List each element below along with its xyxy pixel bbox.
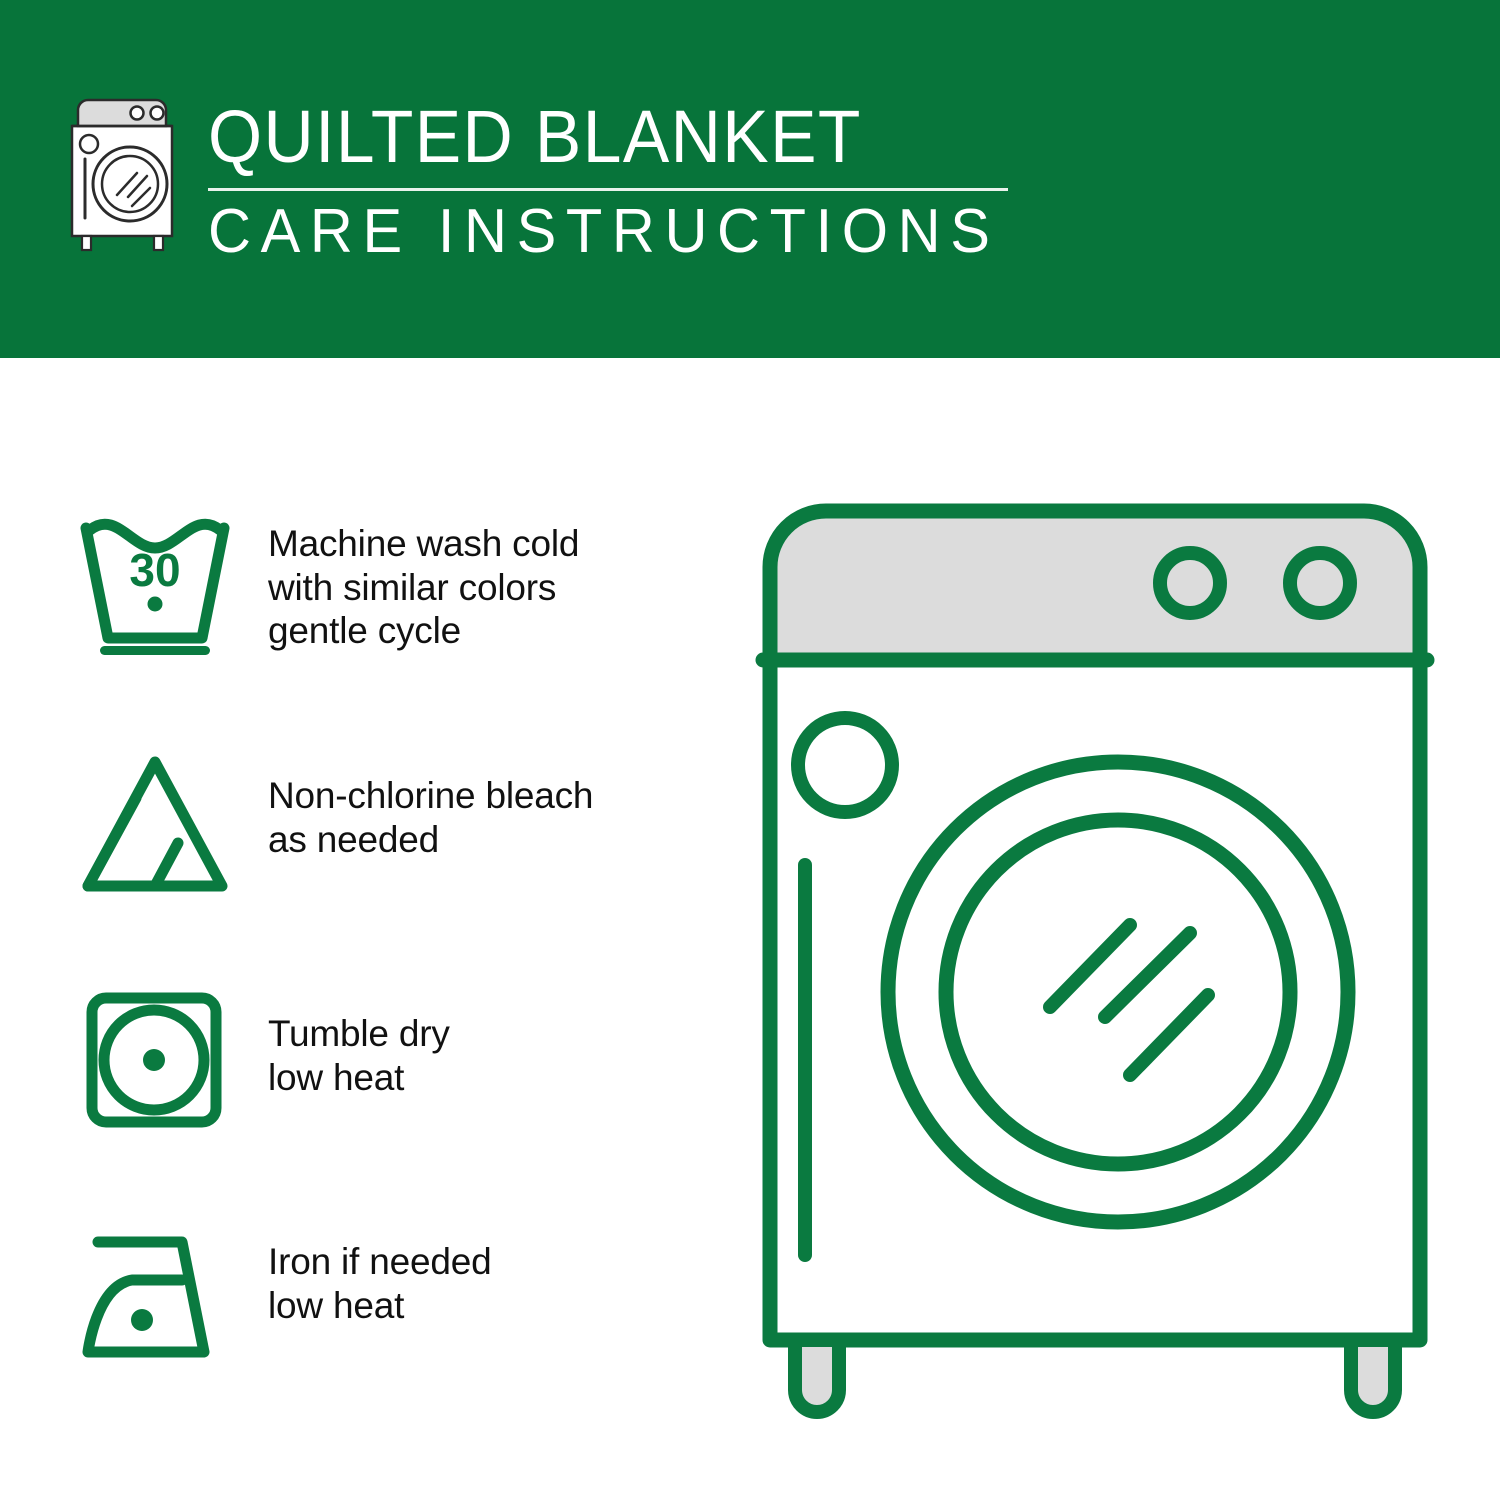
care-item-iron: Iron if needed low heat <box>70 1214 720 1452</box>
page-title: QUILTED BLANKET <box>208 100 983 174</box>
care-item-bleach: Non-chlorine bleach as needed <box>70 738 720 976</box>
tumble-dry-low-icon <box>70 976 240 1150</box>
washing-machine-icon <box>62 96 194 256</box>
care-line: Iron if needed <box>268 1240 491 1284</box>
iron-low-heat-icon <box>70 1214 240 1394</box>
header-banner: QUILTED BLANKET CARE INSTRUCTIONS <box>0 0 1500 358</box>
machine-foot <box>1351 1340 1395 1412</box>
care-instructions-list: 30 Machine wash cold with similar colors… <box>70 500 720 1452</box>
care-item-bleach-label: Non-chlorine bleach as needed <box>268 738 593 861</box>
care-line: gentle cycle <box>268 609 579 653</box>
care-item-tumble-dry-label: Tumble dry low heat <box>268 976 450 1099</box>
care-line: as needed <box>268 818 593 862</box>
care-line: Non-chlorine bleach <box>268 774 593 818</box>
care-line: Tumble dry <box>268 1012 450 1056</box>
header-title-block: QUILTED BLANKET CARE INSTRUCTIONS <box>208 96 1032 263</box>
care-item-tumble-dry: Tumble dry low heat <box>70 976 720 1214</box>
care-item-machine-wash-label: Machine wash cold with similar colors ge… <box>268 500 579 653</box>
title-divider <box>208 188 1008 191</box>
care-item-iron-label: Iron if needed low heat <box>268 1214 491 1327</box>
page-subtitle: CARE INSTRUCTIONS <box>208 201 1000 263</box>
care-line: low heat <box>268 1284 491 1328</box>
front-load-washing-machine-illustration <box>740 495 1450 1425</box>
care-line: with similar colors <box>268 566 579 610</box>
care-line: Machine wash cold <box>268 522 579 566</box>
control-panel <box>770 511 1420 660</box>
non-chlorine-bleach-triangle-icon <box>70 738 240 914</box>
machine-foot <box>795 1340 839 1412</box>
care-item-machine-wash: 30 Machine wash cold with similar colors… <box>70 500 720 738</box>
care-line: low heat <box>268 1056 450 1100</box>
care-instructions-poster: QUILTED BLANKET CARE INSTRUCTIONS 30 <box>0 0 1500 1500</box>
header-content: QUILTED BLANKET CARE INSTRUCTIONS <box>62 96 1032 263</box>
wash-temperature-label: 30 <box>129 544 180 596</box>
wash-tub-30-gentle-icon: 30 <box>70 500 240 670</box>
